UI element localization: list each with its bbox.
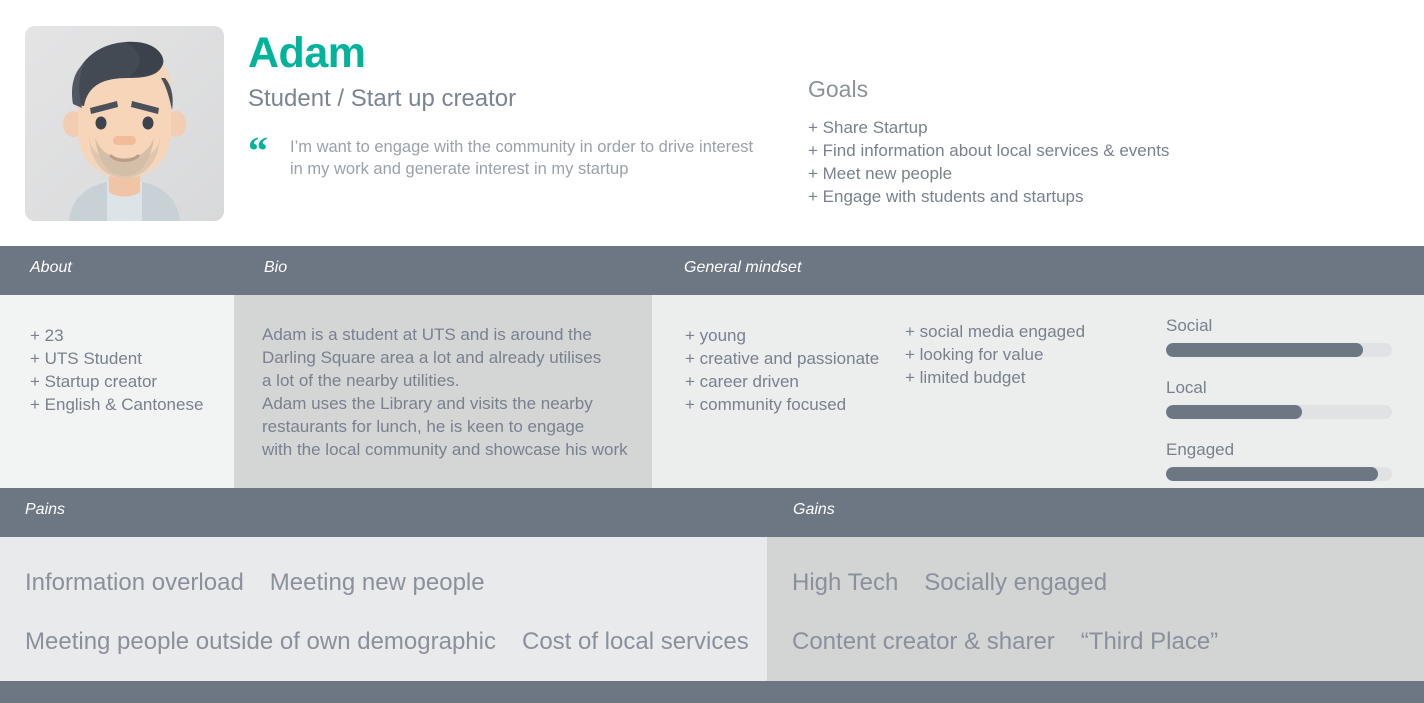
meter-label: Social xyxy=(1166,315,1394,337)
mindset-list-primary: + young + creative and passionate + care… xyxy=(685,324,879,416)
section-label-mindset: General mindset xyxy=(684,259,801,277)
list-item: + career driven xyxy=(685,370,879,393)
list-item: + social media engaged xyxy=(905,320,1085,343)
mindset-panel: + young + creative and passionate + care… xyxy=(652,295,1424,488)
bio-line: Adam uses the Library and visits the nea… xyxy=(262,392,652,415)
avatar-illustration xyxy=(25,26,224,221)
meter-fill xyxy=(1166,405,1302,419)
bio-text: Adam is a student at UTS and is around t… xyxy=(262,323,652,461)
gain-tag: Content creator & sharer xyxy=(792,626,1055,658)
pain-tag: Meeting new people xyxy=(270,567,485,599)
persona-card: Adam Student / Start up creator “ I’m wa… xyxy=(0,0,1424,703)
pain-tag: Information overload xyxy=(25,567,244,599)
gains-tag-group: High Tech Socially engaged Content creat… xyxy=(792,567,1218,658)
bio-line: with the local community and showcase hi… xyxy=(262,438,652,461)
gain-tag: Socially engaged xyxy=(924,567,1107,599)
pain-tag: Cost of local services xyxy=(522,626,749,658)
list-item: + looking for value xyxy=(905,343,1085,366)
quote-icon: “ xyxy=(248,136,268,166)
meter-fill xyxy=(1166,467,1378,481)
persona-header: Adam Student / Start up creator “ I’m wa… xyxy=(0,0,1424,246)
gain-tag: “Third Place” xyxy=(1081,626,1218,658)
goals-list: + Share Startup + Find information about… xyxy=(808,116,1169,208)
bio-panel: Adam is a student at UTS and is around t… xyxy=(234,295,652,488)
goals-title: Goals xyxy=(808,74,1169,104)
bio-line: restaurants for lunch, he is keen to eng… xyxy=(262,415,652,438)
list-item: + Startup creator xyxy=(30,370,203,393)
about-panel: + 23 + UTS Student + Startup creator + E… xyxy=(0,295,234,488)
tag-row: Content creator & sharer “Third Place” xyxy=(792,626,1218,658)
meter-label: Engaged xyxy=(1166,439,1394,461)
persona-identity: Adam Student / Start up creator “ I’m wa… xyxy=(248,26,768,180)
list-item: + creative and passionate xyxy=(685,347,879,370)
meter-social: Social xyxy=(1166,315,1394,357)
footer-bar xyxy=(0,681,1424,703)
list-item: + community focused xyxy=(685,393,879,416)
list-item: + Engage with students and startups xyxy=(808,185,1169,208)
middle-band-header: About Bio General mindset xyxy=(0,246,1424,295)
section-label-bio: Bio xyxy=(264,259,287,277)
list-item: + Share Startup xyxy=(808,116,1169,139)
meter-local: Local xyxy=(1166,377,1394,419)
bio-line: Darling Square area a lot and already ut… xyxy=(262,346,652,369)
pains-tag-group: Information overload Meeting new people … xyxy=(25,567,749,658)
meter-fill xyxy=(1166,343,1363,357)
list-item: + 23 xyxy=(30,324,203,347)
persona-quote: “ I’m want to engage with the community … xyxy=(248,136,768,180)
list-item: + English & Cantonese xyxy=(30,393,203,416)
quote-text: I’m want to engage with the community in… xyxy=(290,138,753,178)
meter-track xyxy=(1166,343,1392,357)
bio-line: Adam is a student at UTS and is around t… xyxy=(262,323,652,346)
tag-row: High Tech Socially engaged xyxy=(792,567,1218,599)
pains-panel: Information overload Meeting new people … xyxy=(0,537,767,681)
gains-panel: High Tech Socially engaged Content creat… xyxy=(767,537,1424,681)
gain-tag: High Tech xyxy=(792,567,898,599)
bio-line: a lot of the nearby utilities. xyxy=(262,369,652,392)
meter-track xyxy=(1166,467,1392,481)
list-item: + UTS Student xyxy=(30,347,203,370)
section-label-gains: Gains xyxy=(793,501,835,519)
middle-band: + 23 + UTS Student + Startup creator + E… xyxy=(0,295,1424,488)
meters-group: Social Local Engaged xyxy=(1166,315,1394,501)
meter-track xyxy=(1166,405,1392,419)
list-item: + Meet new people xyxy=(808,162,1169,185)
page-title: Adam xyxy=(248,26,768,80)
list-item: + limited budget xyxy=(905,366,1085,389)
pain-tag: Meeting people outside of own demographi… xyxy=(25,626,496,658)
section-label-about: About xyxy=(30,259,72,277)
meter-engaged: Engaged xyxy=(1166,439,1394,481)
meter-label: Local xyxy=(1166,377,1394,399)
list-item: + Find information about local services … xyxy=(808,139,1169,162)
goals-section: Goals + Share Startup + Find information… xyxy=(808,74,1169,208)
list-item: + young xyxy=(685,324,879,347)
tag-row: Meeting people outside of own demographi… xyxy=(25,626,749,658)
bottom-band: Information overload Meeting new people … xyxy=(0,537,1424,681)
tag-row: Information overload Meeting new people xyxy=(25,567,749,599)
mindset-list-secondary: + social media engaged + looking for val… xyxy=(905,320,1085,389)
persona-role: Student / Start up creator xyxy=(248,82,768,116)
avatar xyxy=(25,26,224,221)
section-label-pains: Pains xyxy=(25,501,65,519)
bottom-band-header: Pains Gains xyxy=(0,488,1424,537)
about-list: + 23 + UTS Student + Startup creator + E… xyxy=(30,324,203,416)
